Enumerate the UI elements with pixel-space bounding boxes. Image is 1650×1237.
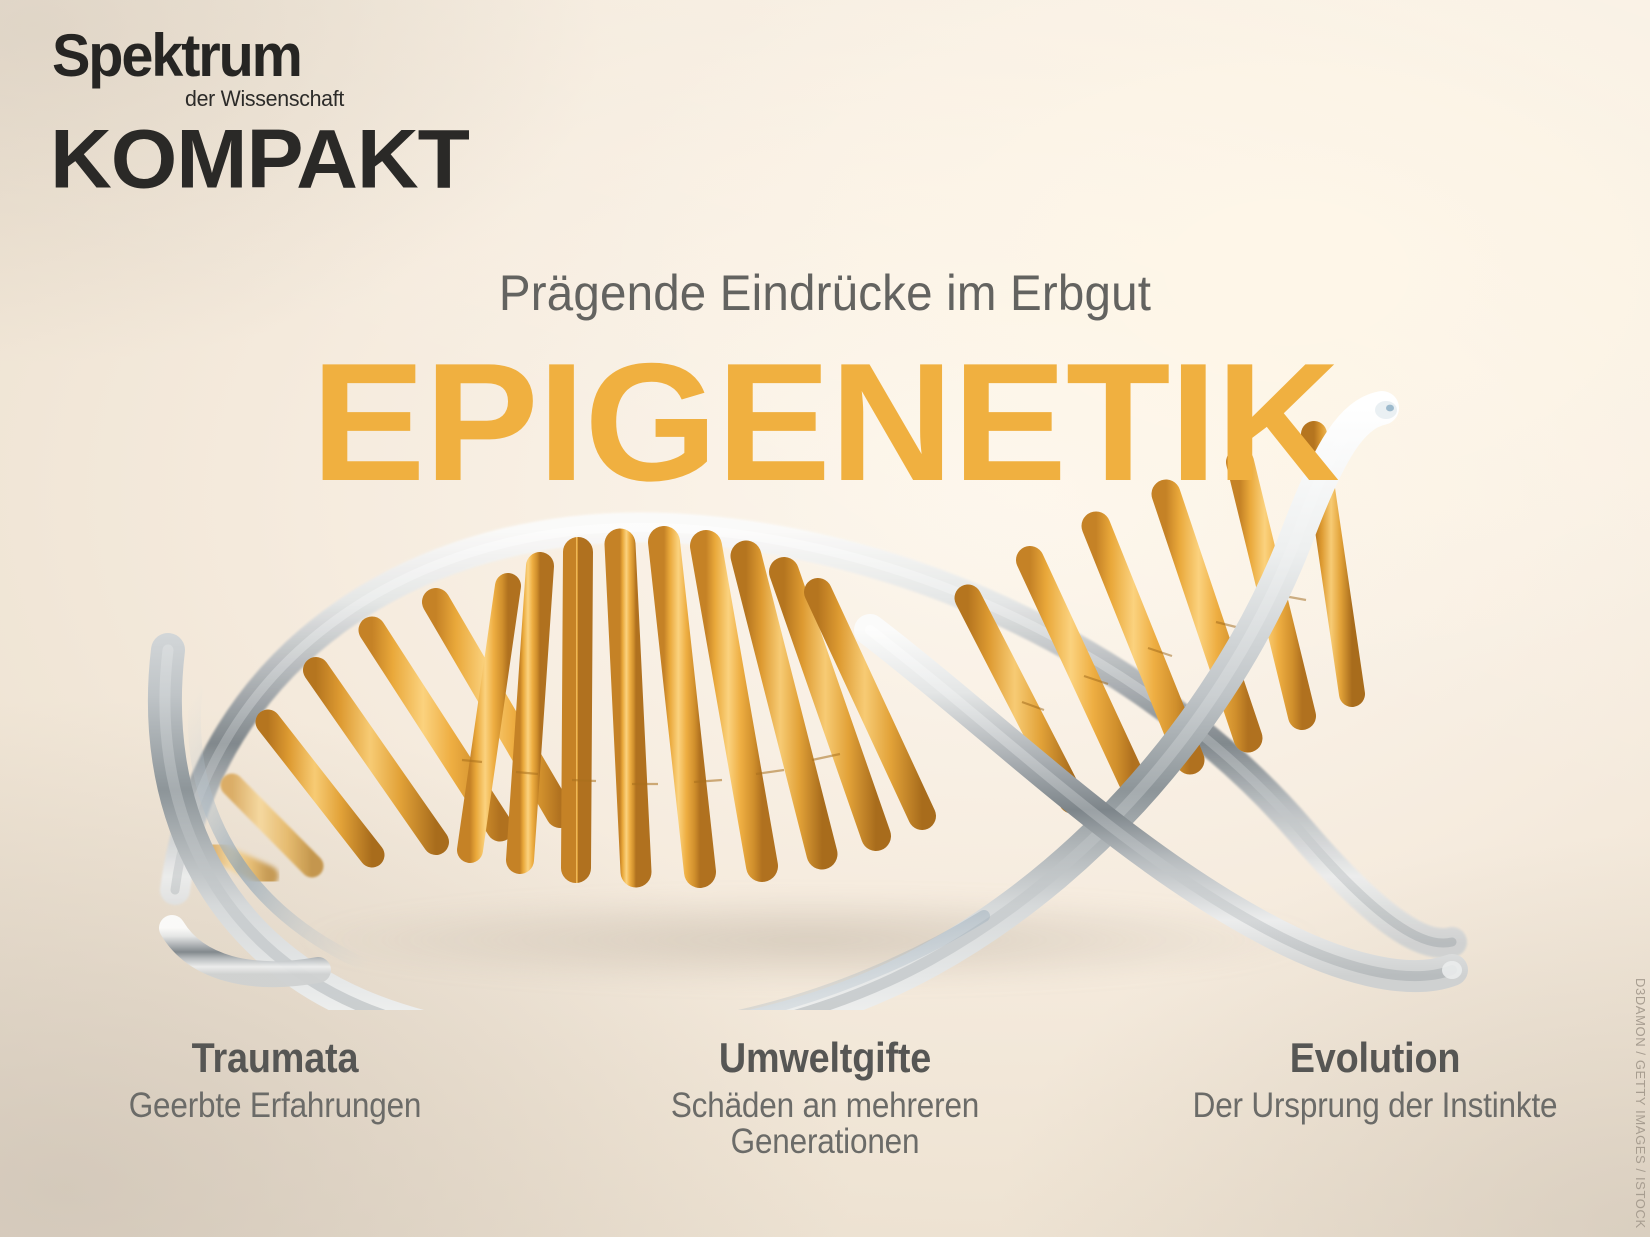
topic-title: Umweltgifte xyxy=(583,1036,1067,1080)
topic-subtitle: Geerbte Erfahrungen xyxy=(33,1088,517,1125)
topic-subtitle: Der Ursprung der Instinkte xyxy=(1133,1088,1617,1125)
topic-subtitle: Schäden an mehreren Generationen xyxy=(583,1088,1067,1162)
brand-name: Spektrum xyxy=(52,26,301,86)
photo-credit: D3DAMON / GETTY IMAGES / ISTOCK xyxy=(1633,978,1648,1229)
magazine-cover: Spektrum der Wissenschaft KOMPAKT Prägen… xyxy=(0,0,1650,1237)
topic-item-evolution: Evolution Der Ursprung der Instinkte xyxy=(1100,1036,1650,1161)
brand-lockup: Spektrum xyxy=(52,26,472,88)
series-name: KOMPAKT xyxy=(50,118,469,201)
dna-rungs-center xyxy=(462,542,922,872)
topic-list: Traumata Geerbte Erfahrungen Umweltgifte… xyxy=(0,1036,1650,1161)
cover-title: EPIGENETIK xyxy=(0,338,1650,506)
topic-title: Traumata xyxy=(33,1036,517,1080)
masthead: Spektrum der Wissenschaft KOMPAKT xyxy=(52,26,472,88)
topic-item-umweltgifte: Umweltgifte Schäden an mehreren Generati… xyxy=(550,1036,1100,1161)
topic-item-traumata: Traumata Geerbte Erfahrungen xyxy=(0,1036,550,1161)
topic-title: Evolution xyxy=(1133,1036,1617,1080)
cover-kicker: Prägende Eindrücke im Erbgut xyxy=(41,264,1609,322)
brand-tagline: der Wissenschaft xyxy=(185,88,344,110)
